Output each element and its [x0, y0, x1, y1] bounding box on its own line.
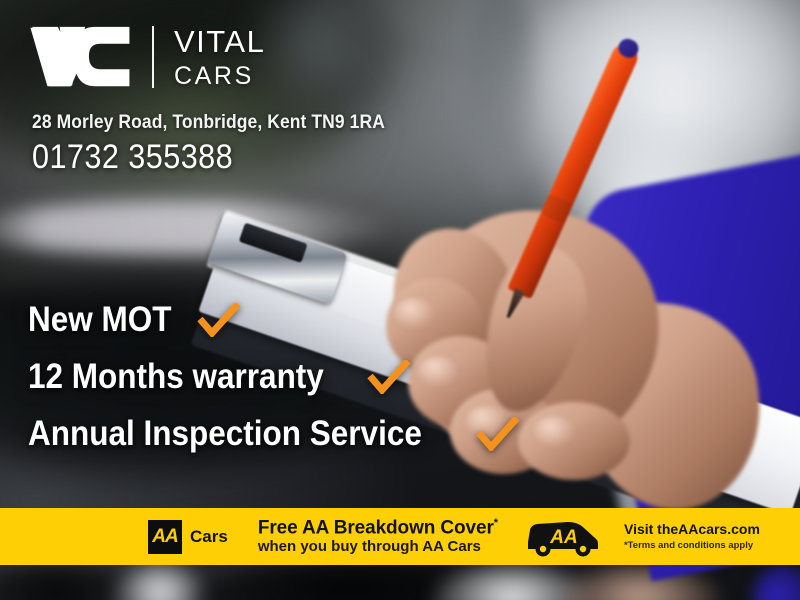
aa-cars-logo: AA Cars [148, 520, 228, 554]
orange-check-icon [197, 303, 241, 337]
brand-name-line1: VITAL [174, 26, 265, 57]
header: VITAL CARS 28 Morley Road, Tonbridge, Ke… [0, 0, 800, 177]
aa-visit-block[interactable]: Visit theAAcars.com *Terms and condition… [624, 521, 760, 551]
advert-banner: VITAL CARS 28 Morley Road, Tonbridge, Ke… [0, 0, 800, 600]
brand-name-line2: CARS [174, 64, 265, 89]
aa-logo-text: AA [152, 526, 177, 548]
aa-headline-superscript: * [494, 517, 498, 529]
feature-label: New MOT [28, 300, 172, 340]
brand-wordmark: VITAL CARS [174, 26, 265, 89]
feature-item: Annual Inspection Service [28, 414, 548, 454]
svg-text:AA: AA [549, 527, 577, 548]
aa-copy: Free AA Breakdown Cover* when you buy th… [258, 517, 498, 555]
aa-breakdown-banner[interactable]: AA Cars Free AA Breakdown Cover* when yo… [0, 508, 800, 565]
aa-terms-text: *Terms and conditions apply [624, 540, 760, 551]
feature-item: 12 Months warranty [28, 357, 548, 397]
feature-label: Annual Inspection Service [28, 414, 422, 454]
orange-check-icon [476, 417, 520, 451]
feature-item: New MOT [28, 300, 548, 340]
aa-headline: Free AA Breakdown Cover* [258, 517, 498, 539]
feature-label: 12 Months warranty [28, 357, 324, 397]
phone-number[interactable]: 01732 355388 [32, 138, 723, 177]
aa-visit-url[interactable]: Visit theAAcars.com [624, 521, 760, 538]
aa-headline-text: Free AA Breakdown Cover [258, 518, 494, 539]
brand-divider [152, 26, 154, 88]
orange-check-icon [367, 360, 411, 394]
aa-subline: when you buy through AA Cars [258, 539, 498, 556]
address-text: 28 Morley Road, Tonbridge, Kent TN9 1RA [32, 112, 739, 134]
feature-list: New MOT 12 Months warranty Annual Inspec… [28, 300, 548, 471]
aa-logo-suffix: Cars [190, 527, 228, 547]
aa-logo-icon: AA [148, 520, 182, 554]
vc-monogram-logo-icon [28, 24, 146, 90]
aa-van-icon: AA [524, 516, 602, 558]
brand-lockup: VITAL CARS [28, 18, 800, 96]
